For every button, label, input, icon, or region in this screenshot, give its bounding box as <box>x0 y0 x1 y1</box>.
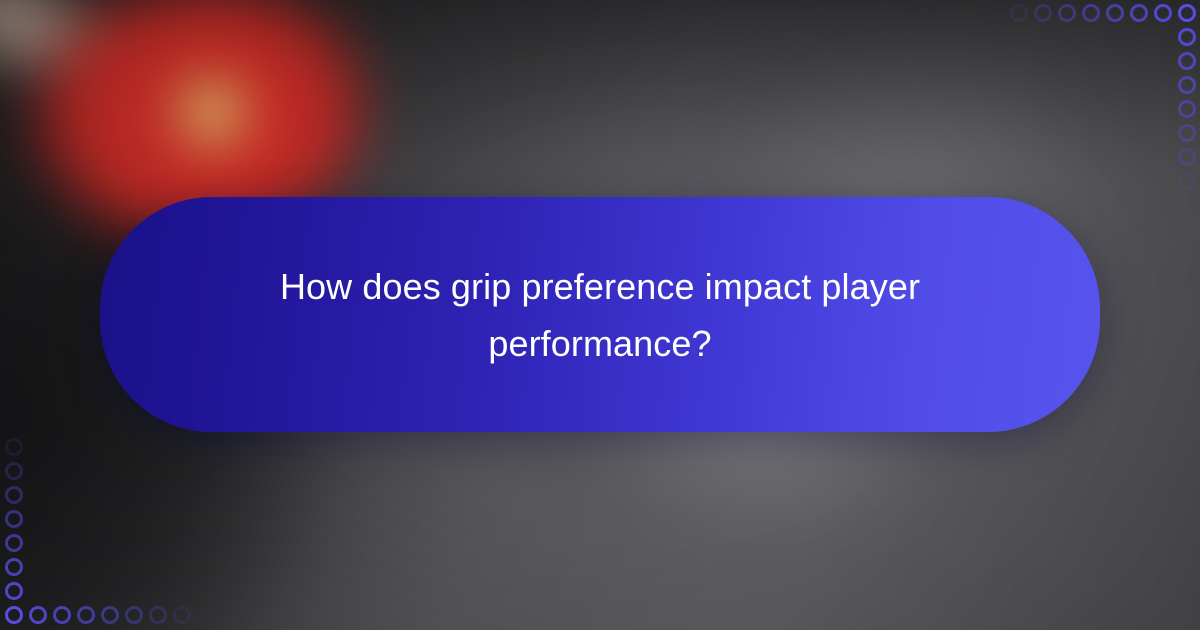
screenshot-canvas: How does grip preference impact player p… <box>0 0 1200 630</box>
question-text: How does grip preference impact player p… <box>154 258 1046 372</box>
question-card: How does grip preference impact player p… <box>100 197 1100 432</box>
